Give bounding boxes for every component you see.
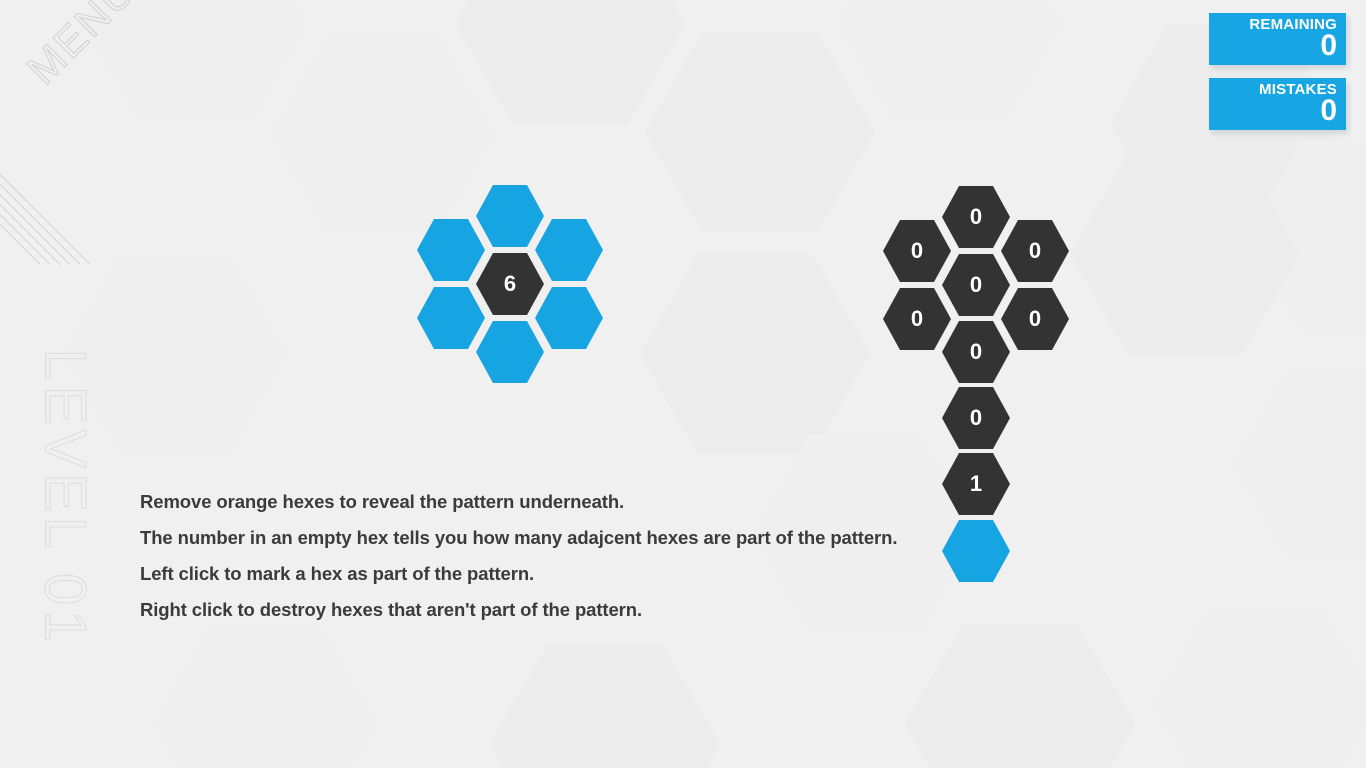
menu-button[interactable]: MENU [0,0,270,265]
level-label: LEVEL 01 [32,349,99,679]
background-hex [455,0,685,128]
hex-cell-number[interactable]: 6 [476,253,544,315]
counters-panel: REMAINING 0 MISTAKES 0 [1209,13,1346,130]
hex-value: 0 [911,308,923,330]
hex-cell-number[interactable]: 0 [1001,220,1069,282]
instructions-panel: Remove orange hexes to reveal the patter… [140,484,920,628]
hex-cell-number[interactable]: 1 [942,453,1010,515]
hex-cell-number[interactable]: 0 [942,387,1010,449]
hex-cell-blue[interactable] [476,321,544,383]
hex-cell-blue[interactable] [942,520,1010,582]
mistakes-counter: MISTAKES 0 [1209,78,1346,130]
mistakes-value: 0 [1218,96,1337,126]
instruction-line: Left click to mark a hex as part of the … [140,556,920,592]
instruction-line: Remove orange hexes to reveal the patter… [140,484,920,520]
hex-value: 0 [1029,308,1041,330]
hex-cell-number[interactable]: 0 [942,186,1010,248]
hex-value: 0 [911,240,923,262]
hex-cell-blue[interactable] [417,287,485,349]
hex-value: 0 [970,274,982,296]
background-hex [1150,600,1366,768]
background-hex [905,620,1135,768]
hex-value: 0 [1029,240,1041,262]
hex-cell-blue[interactable] [535,219,603,281]
background-hex [150,620,380,768]
background-hex [640,250,870,458]
hex-cell-number[interactable]: 0 [883,220,951,282]
background-hex [268,30,498,238]
remaining-value: 0 [1218,31,1337,61]
background-hex [1070,150,1300,358]
hex-cell-number[interactable]: 0 [1001,288,1069,350]
hex-value: 0 [970,341,982,363]
hex-cell-blue[interactable] [535,287,603,349]
game-screen: MENU LEVEL 01 REMAINING 0 MISTAKES 0 6 0… [0,0,1366,768]
hex-value: 0 [970,206,982,228]
hex-cell-blue[interactable] [476,185,544,247]
instruction-line: The number in an empty hex tells you how… [140,520,920,556]
background-hex [490,640,720,768]
hex-cell-number[interactable]: 0 [942,321,1010,383]
hex-value: 6 [504,273,516,295]
hex-cell-blue[interactable] [417,219,485,281]
instruction-line: Right click to destroy hexes that aren't… [140,592,920,628]
background-hex [645,28,875,236]
remaining-counter: REMAINING 0 [1209,13,1346,65]
background-hex [835,0,1065,128]
hex-cell-number[interactable]: 0 [883,288,951,350]
hex-value: 0 [970,407,982,429]
background-hex [1230,360,1366,568]
hex-value: 1 [970,473,982,495]
background-hex [1245,135,1366,343]
hex-cell-number[interactable]: 0 [942,254,1010,316]
